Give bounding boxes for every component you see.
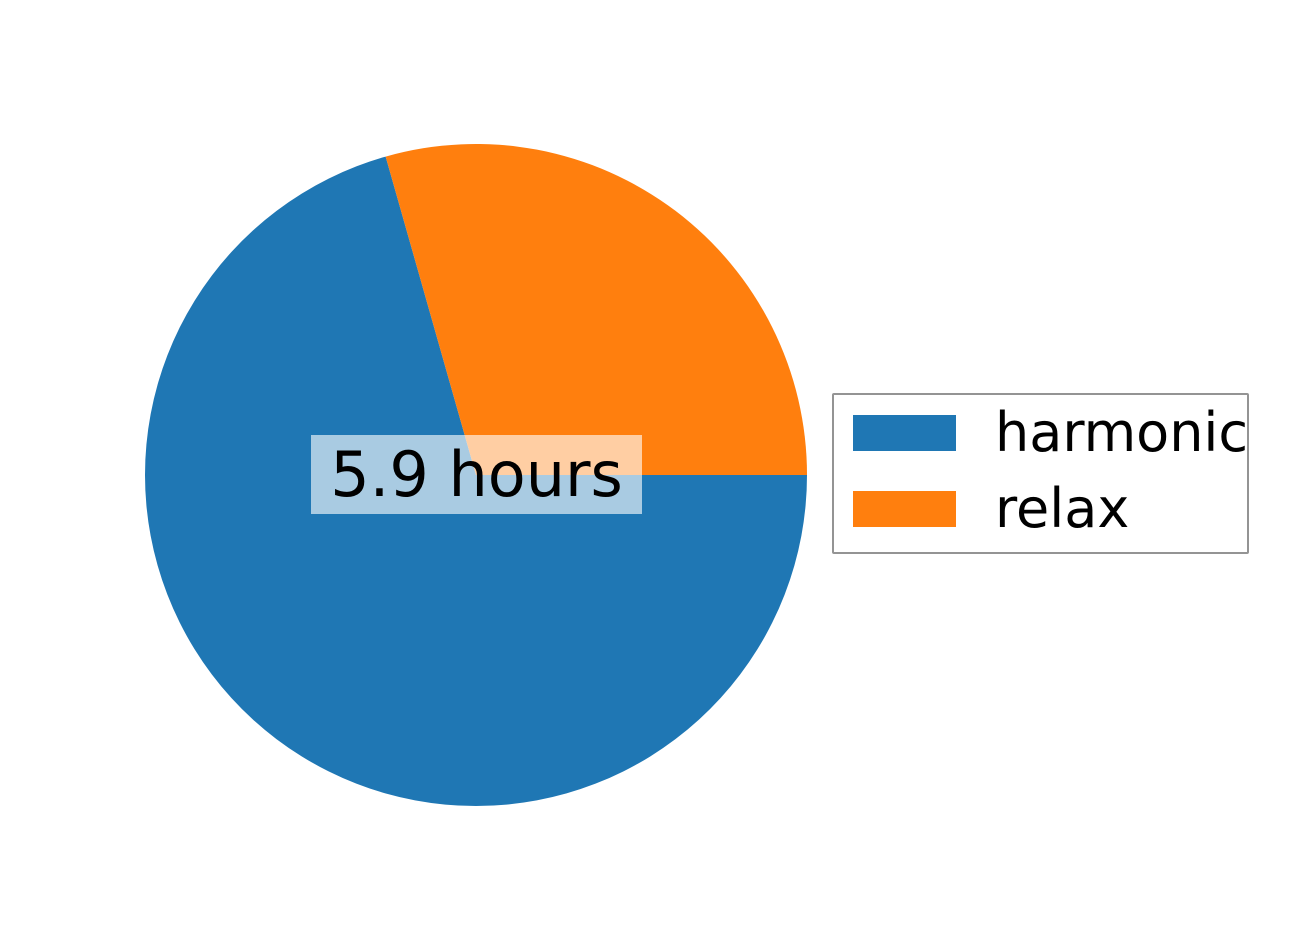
pie-chart-figure: 5.9 hours harmonic relax xyxy=(0,0,1307,951)
legend: harmonic relax xyxy=(832,393,1249,554)
legend-swatch-harmonic xyxy=(853,415,956,451)
pie-center-label: 5.9 hours xyxy=(311,435,642,514)
pie-center-label-text: 5.9 hours xyxy=(330,444,623,506)
legend-entry-relax[interactable]: relax xyxy=(834,482,1247,536)
legend-swatch-relax xyxy=(853,491,956,527)
legend-entry-harmonic[interactable]: harmonic xyxy=(834,406,1247,460)
legend-label-relax: relax xyxy=(995,482,1129,536)
legend-label-harmonic: harmonic xyxy=(995,406,1248,460)
